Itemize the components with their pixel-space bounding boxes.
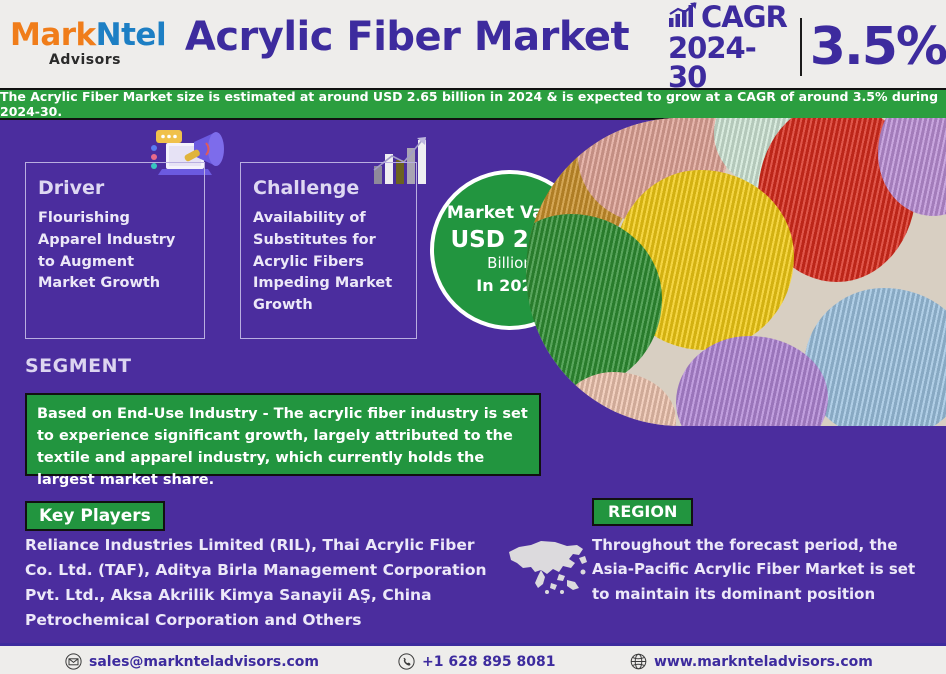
photo-content [526, 118, 946, 426]
footer-email-text: sales@marknteladvisors.com [89, 654, 319, 670]
cagr-block: CAGR 2024-30 3.5% [668, 16, 946, 78]
footer-email[interactable]: sales@marknteladvisors.com [65, 653, 319, 670]
footer-bar: sales@marknteladvisors.com +1 628 895 80… [0, 643, 946, 674]
driver-card: Driver Flourishing Apparel Industry to A… [25, 162, 205, 339]
footer-phone-text: +1 628 895 8081 [422, 654, 556, 670]
segment-box: Based on End-Use Industry - The acrylic … [25, 393, 541, 476]
logo-subtitle: Advisors [10, 53, 160, 67]
logo-text-mark: Mark [10, 17, 96, 53]
cagr-label-group: CAGR 2024-30 [668, 2, 792, 92]
footer-website-text: www.marknteladvisors.com [654, 654, 873, 670]
region-text: Throughout the forecast period, the Asia… [592, 533, 932, 606]
footer-phone[interactable]: +1 628 895 8081 [398, 653, 556, 670]
key-players-badge-label: Key Players [39, 506, 151, 526]
region-badge-label: REGION [608, 502, 677, 521]
yarn-balls-photo [526, 118, 946, 426]
footer-website[interactable]: www.marknteladvisors.com [630, 653, 873, 670]
asia-pacific-map-icon [505, 536, 593, 598]
bar-chart-arrow-icon [668, 2, 698, 32]
key-players-badge: Key Players [25, 501, 165, 531]
infographic-page: MarkNtel Advisors Acrylic Fiber Market [0, 0, 946, 674]
cagr-years: 2024-30 [668, 34, 792, 92]
page-title: Acrylic Fiber Market [172, 14, 642, 60]
cagr-label-row: CAGR [668, 2, 792, 32]
cagr-value: 3.5% [810, 21, 946, 73]
region-badge: REGION [592, 498, 693, 526]
company-logo[interactable]: MarkNtel Advisors [10, 20, 160, 67]
segment-label: SEGMENT [25, 355, 132, 377]
challenge-body: Availability of Substitutes for Acrylic … [253, 208, 404, 317]
logo-text-ntel: Ntel [96, 17, 166, 53]
driver-body: Flourishing Apparel Industry to Augment … [38, 208, 192, 295]
header-bar: MarkNtel Advisors Acrylic Fiber Market [0, 0, 946, 88]
challenge-heading: Challenge [253, 177, 404, 199]
segment-text: Based on End-Use Industry - The acrylic … [37, 406, 528, 488]
key-players-text: Reliance Industries Limited (RIL), Thai … [25, 533, 495, 633]
cagr-divider [800, 18, 802, 76]
summary-banner-text: The Acrylic Fiber Market size is estimat… [0, 89, 946, 119]
summary-banner: The Acrylic Fiber Market size is estimat… [0, 88, 946, 120]
logo-wordmark: MarkNtel [10, 20, 160, 51]
envelope-icon [65, 653, 82, 670]
driver-heading: Driver [38, 177, 192, 199]
globe-icon [630, 653, 647, 670]
challenge-card: Challenge Availability of Substitutes fo… [240, 162, 417, 339]
cagr-label: CAGR [701, 3, 787, 32]
phone-icon [398, 653, 415, 670]
